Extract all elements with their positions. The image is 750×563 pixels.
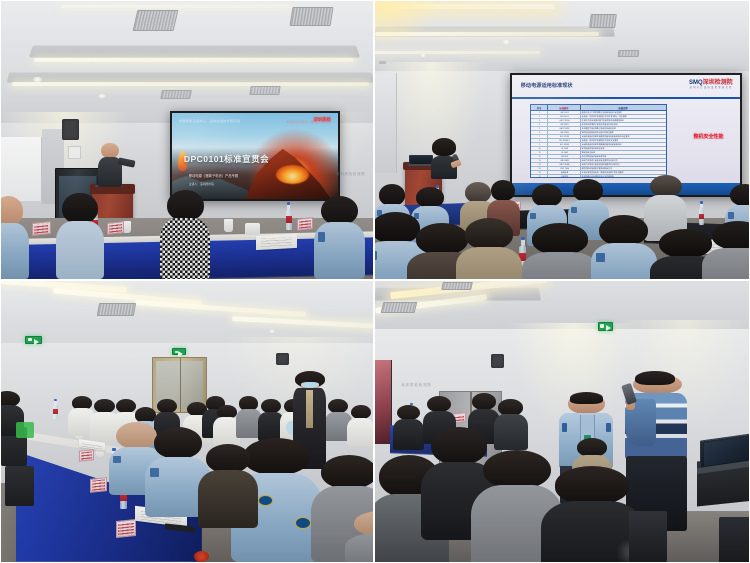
cell-no: 5 [531, 127, 549, 130]
cell-no: 11 [531, 151, 549, 154]
name-card-text [92, 479, 105, 490]
cell-no: 13 [531, 159, 549, 162]
cell-name: 家用和商用电池组安全标准 [581, 147, 666, 150]
cell-no: 16 [531, 171, 549, 174]
ceiling-air-vent [133, 10, 179, 31]
attendee-head [416, 223, 468, 254]
cell-name: 含碱性或其他非酸性电解液的蓄电池和蓄电池组 [581, 143, 666, 146]
attendee-head [599, 215, 648, 246]
cell-standard: GB 31241 [548, 111, 580, 114]
cell-name: 音视频、信息技术和通信技术设备 安全要求 [581, 139, 666, 142]
documents-on-table [256, 233, 297, 249]
attendee-head [416, 187, 444, 208]
attendee-front-row [206, 444, 251, 528]
cell-standard: GB 4943.1 [548, 115, 580, 118]
attendee-head [354, 511, 374, 536]
attendee-head [491, 180, 515, 201]
cell-standard: IEC 62133 [548, 135, 580, 138]
cell-standard: GB 18287 [548, 123, 580, 126]
cell-no: 15 [531, 167, 549, 170]
bottle-cap [287, 202, 291, 205]
photo-collage: 中国质量认证中心 · 深圳检测技术研究院 深圳质检 SHENZHEN INSTI… [0, 0, 750, 563]
attendee-torso [591, 243, 657, 280]
column-header-no: 序号 [531, 105, 549, 111]
wall-speaker [276, 353, 289, 365]
cell-no: 3 [531, 119, 549, 122]
name-card [90, 477, 107, 493]
slide-brand-logo-sub: SHENZHEN INSTITUTE [287, 122, 331, 125]
cell-name: 锂电池安全标准 [581, 151, 666, 154]
officer-head [243, 438, 310, 475]
cell-name: 信息技术设备 便携式数字设备用移动电源通用规范 [581, 119, 666, 122]
attendee-head [532, 223, 588, 254]
ceiling-air-vent [290, 7, 334, 26]
slide-logo-sub: 深圳市计量质量检测研究院 [689, 87, 733, 89]
uniform-badge [258, 495, 273, 506]
attendee-head [650, 175, 682, 198]
conference-room-scene-4: 深圳质检检测院 [375, 281, 749, 562]
attendee-seated [167, 190, 204, 279]
tissue-box [245, 223, 261, 235]
bottle-cap [521, 237, 525, 241]
attendee-torso [702, 248, 750, 280]
attendee-seated [72, 396, 92, 435]
attendee-torso [56, 221, 104, 279]
presenter-hair [432, 138, 456, 156]
panel-top-left: 中国质量认证中心 · 深圳检测技术研究院 深圳质检 SHENZHEN INSTI… [0, 0, 374, 280]
slide-lava-glow [276, 165, 309, 184]
cell-no: 4 [531, 123, 549, 126]
attendee-seated [321, 196, 358, 279]
ceiling-air-vent [589, 14, 617, 28]
strip-light [12, 82, 369, 86]
presenter-head [101, 143, 118, 158]
attendee-head [206, 444, 251, 473]
laptop [700, 433, 750, 468]
attendee-front-row [712, 221, 750, 280]
cell-name: 移动电话用锂离子蓄电池及蓄电池组总规范 [581, 123, 666, 126]
standing-questioner [633, 374, 682, 531]
ceiling-downlight [98, 94, 106, 98]
cell-name: 音视频、信息技术和通信技术设备 第1部分：安全要求 [581, 115, 666, 118]
name-card [297, 217, 313, 230]
name-card-text [299, 219, 311, 228]
staff-inner-top [306, 390, 313, 428]
name-card [107, 221, 124, 235]
attendee-torso [522, 252, 598, 280]
cell-standard: 行业规范 [548, 175, 580, 178]
attendee-torso [0, 223, 29, 279]
ceiling-air-vent [160, 90, 192, 99]
attendee-head [465, 182, 491, 203]
strip-light [34, 58, 354, 62]
ceiling-downlight [33, 77, 43, 81]
water-bottle [699, 208, 705, 225]
officer-shoulder-board [606, 423, 611, 432]
attendee-head [483, 450, 550, 490]
attendee-head [465, 218, 514, 250]
exit-sign [172, 348, 185, 355]
attendee-head [321, 455, 374, 489]
standards-table: 序号 标准编号 标准名称 1GB 31241便携式电子产品用锂离子电池和电池组 … [530, 104, 667, 178]
attendee-head [659, 229, 711, 258]
name-card-text [109, 224, 122, 233]
bottle-label [286, 216, 292, 223]
chair [719, 517, 750, 563]
cell-standard: GB/T 31486 [548, 163, 580, 166]
attendee-torso [494, 414, 528, 449]
cell-standard: IEC 61960 [548, 143, 580, 146]
attendee-head [555, 466, 630, 504]
attendee-head [427, 396, 451, 412]
attendee-seated [351, 405, 371, 447]
attendee-torso [347, 418, 374, 447]
attendee-torso [198, 470, 259, 528]
attendee-head [0, 391, 20, 407]
attendee-head [351, 405, 371, 419]
cell-standard: GB 21966 [548, 131, 580, 134]
cell-no: 1 [531, 111, 549, 114]
attendee-seated [62, 193, 97, 279]
strip-light [61, 5, 292, 8]
slide-logo-cn: 深圳检测院 [703, 80, 733, 86]
wall-speaker [491, 354, 504, 367]
cell-standard: IEC 62368-1 [548, 139, 580, 142]
ceiling-downlight [269, 330, 275, 333]
standards-table-body: 1GB 31241便携式电子产品用锂离子电池和电池组 安全要求 2GB 4943… [531, 111, 666, 178]
attendee-front-row [465, 218, 514, 280]
bottle-label [120, 494, 127, 502]
ceiling-air-vent [250, 86, 281, 95]
cell-standard: YD/T 2344 [548, 167, 580, 170]
attendee-front-row [532, 223, 588, 280]
attendee-torso [160, 218, 211, 279]
attendee-seated [239, 396, 258, 438]
name-card [79, 449, 94, 462]
presenter [101, 143, 118, 187]
slide-subtitle-secondary: 主讲人：深圳质检院 [189, 182, 214, 186]
chair [5, 466, 35, 505]
officer-shoulder-board [562, 423, 567, 432]
wall-signage-text: 深圳质检检测院 [336, 171, 365, 176]
ceiling-light-glare [375, 1, 435, 45]
chair [629, 511, 666, 562]
cell-name: 锂原电池和蓄电池在运输中的安全要求 [581, 131, 666, 134]
attendee-head [730, 184, 750, 206]
cell-standard: UL 1642 [548, 151, 580, 154]
ceiling-air-vent [441, 282, 473, 290]
attendee-seated [261, 399, 280, 441]
name-card-text [119, 522, 134, 535]
cell-name: 电动汽车用动力蓄电池电性能要求及试验方法 [581, 163, 666, 166]
wall-signage-text: 深圳质检检测院 [401, 382, 432, 387]
attendee-head [0, 196, 23, 226]
attendee-torso [456, 247, 522, 280]
exit-sign [598, 322, 614, 331]
attendee-seated [94, 399, 115, 441]
cell-no: 12 [531, 155, 549, 158]
conference-room-scene-1: 中国质量认证中心 · 深圳检测技术研究院 深圳质检 SHENZHEN INSTI… [1, 1, 373, 279]
table-row: 17行业规范移动电源行业自律规范及认证实施规则 [531, 175, 666, 178]
cell-no: 10 [531, 147, 549, 150]
attendee-front-row [354, 511, 374, 563]
cell-name: 便携式电子产品用锂离子电池和电池组 安全要求 [581, 111, 666, 114]
slide-divider-line [512, 97, 740, 99]
attendee-seated [0, 196, 23, 279]
slide-subtitle: 移动电源（锂离子电池）产品专题 [189, 173, 238, 178]
column-header-name: 标准名称 [581, 105, 666, 111]
cell-no: 14 [531, 163, 549, 166]
cell-standard: UL 2054 [548, 147, 580, 150]
slide-logo: SMQ深圳检测院 深圳市计量质量检测研究院 [689, 80, 733, 89]
presenter-female [435, 140, 454, 179]
attendee-head [397, 405, 419, 420]
attendee-seated [217, 405, 237, 447]
attendee-head [712, 221, 750, 251]
bottle-label [53, 409, 58, 414]
ceiling-air-vent [97, 303, 136, 316]
attendee-front-row [599, 215, 648, 280]
name-card-text [81, 451, 92, 459]
cell-standard: GB/T 35590 [548, 119, 580, 122]
conference-room-scene-2: 移动电源适用标准现状 SMQ深圳检测院 深圳市计量质量检测研究院 序号 标准编号… [375, 1, 749, 279]
wall-panel [375, 73, 397, 173]
water-bottle [53, 405, 58, 419]
attendee-head [62, 193, 97, 224]
conference-room-scene-3 [1, 281, 373, 562]
slide-background: 移动电源适用标准现状 SMQ深圳检测院 深圳市计量质量检测研究院 序号 标准编号… [512, 75, 740, 195]
attendee-head [532, 184, 562, 207]
cell-standard: UN 38.3 [548, 155, 580, 158]
questioner-hair [635, 371, 675, 385]
attendee-head [167, 190, 204, 221]
attendee-seated [328, 399, 348, 441]
attendee-head [498, 399, 523, 416]
attendee-head [374, 212, 420, 244]
attendee-head [577, 438, 607, 457]
water-bottle [286, 210, 292, 230]
attendee-head [573, 179, 603, 202]
slide-title: 移动电源适用标准现状 [521, 82, 573, 89]
cell-no: 6 [531, 131, 549, 134]
laptop-on-podium [409, 155, 433, 165]
ceiling-air-vent [381, 302, 417, 313]
attendee-head [431, 427, 487, 465]
cell-name: 移动通信手持机锂离子蓄电池及蓄电池组 [581, 127, 666, 130]
name-card-text [35, 224, 49, 234]
cell-no: 17 [531, 175, 549, 178]
officer-head [154, 427, 202, 459]
ceiling-downlight [420, 54, 426, 57]
wall-fixture [379, 61, 386, 64]
bottle-cap [700, 201, 703, 204]
attendee-torso [345, 534, 374, 563]
bottle-label [699, 214, 705, 220]
cell-name: 通信用移动电源技术要求和检验方法 [581, 167, 666, 170]
name-card [116, 519, 136, 538]
cell-standard: 其他标准 [548, 171, 580, 174]
wall-speaker [62, 119, 79, 140]
cell-no: 7 [531, 135, 549, 138]
green-bag [16, 422, 35, 439]
panel-top-right: 移动电源适用标准现状 SMQ深圳检测院 深圳市计量质量检测研究院 序号 标准编号… [374, 0, 750, 280]
slide-top-tag: 中国质量认证中心 · 深圳检测技术研究院 [179, 118, 240, 123]
strip-light [375, 51, 540, 54]
face-mask [301, 382, 319, 388]
slide-red-annotation: 整机安全性能 [694, 133, 724, 140]
name-card [32, 221, 51, 236]
officer-front-row [154, 427, 202, 517]
attendee-torso [314, 222, 365, 279]
officer-hair [570, 392, 603, 404]
laptop-screen [704, 436, 748, 465]
slide-main-title: DPC0101标准宣贯会 [184, 153, 269, 165]
officer-head [116, 422, 157, 450]
wall-control-panel [68, 146, 81, 160]
bottle-cap [54, 399, 57, 401]
cell-standard: GB 31485 [548, 159, 580, 162]
cell-name: 危险货物运输试验和标准手册 [581, 155, 666, 158]
ceiling-recess [29, 46, 360, 58]
whiteboard [1, 137, 42, 201]
presentation-screen: 移动电源适用标准现状 SMQ深圳检测院 深圳市计量质量检测研究院 序号 标准编号… [510, 73, 742, 197]
ceiling-air-vent [618, 50, 639, 57]
attendee-head [379, 184, 405, 205]
cell-standard: GB/T 18287 [548, 127, 580, 130]
panel-bottom-right: 深圳质检检测院 [374, 280, 750, 563]
cell-no: 9 [531, 143, 549, 146]
exit-sign [25, 336, 41, 344]
cell-name: 电动汽车用动力蓄电池安全要求及试验方法 [581, 159, 666, 162]
panel-bottom-left [0, 280, 374, 563]
cell-no: 8 [531, 139, 549, 142]
attendee-seated [397, 405, 419, 450]
attendee-head [321, 196, 358, 225]
attendee-torso [393, 419, 424, 450]
paper-cup [224, 219, 233, 232]
column-header-standard: 标准编号 [548, 105, 580, 111]
cell-name: 含碱性或其他非酸性电解质的蓄电池和蓄电池组 安全要求 [581, 135, 666, 138]
slide-brand-logo: 深圳质检 SHENZHEN INSTITUTE [287, 117, 331, 125]
cell-no: 2 [531, 115, 549, 118]
attendee-seated [498, 399, 523, 450]
presentation-screen: 中国质量认证中心 · 深圳检测技术研究院 深圳质检 SHENZHEN INSTI… [170, 111, 339, 201]
slide-logo-main: SMQ [689, 80, 703, 86]
ceiling-recess [7, 72, 374, 83]
attendee-head [472, 393, 496, 410]
